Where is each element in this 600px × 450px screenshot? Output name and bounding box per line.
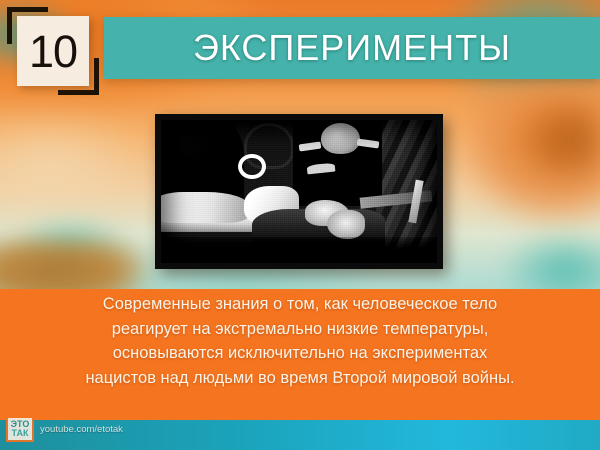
background-blob-right-dark bbox=[520, 95, 600, 185]
photo-frame bbox=[155, 114, 443, 269]
caption-line-1: Современные знания о том, как человеческ… bbox=[12, 292, 588, 317]
photo-layer-head bbox=[321, 123, 360, 154]
photo-layer-strap bbox=[238, 154, 265, 179]
caption-line-4: нацистов над людьми во время Второй миро… bbox=[12, 366, 588, 391]
channel-watermark[interactable]: ЭТО ТАК youtube.com/etotak bbox=[6, 416, 123, 442]
channel-url-text: youtube.com/etotak bbox=[40, 424, 123, 435]
photo-layer-arm bbox=[161, 192, 249, 223]
background-blob-left-tan bbox=[0, 110, 160, 220]
title-bar: ЭКСПЕРИМЕНТЫ bbox=[104, 17, 600, 79]
slide-number-badge: 10 bbox=[5, 5, 107, 97]
photo-layer-floor bbox=[161, 237, 437, 263]
photo-layer-face-secondary bbox=[327, 210, 366, 239]
caption-banner: Современные знания о том, как человеческ… bbox=[0, 289, 600, 420]
historical-photo bbox=[161, 120, 437, 263]
caption-line-2: реагирует на экстремально низкие темпера… bbox=[12, 317, 588, 342]
slide-number-text: 10 bbox=[29, 29, 77, 74]
channel-logo-icon: ЭТО ТАК bbox=[6, 416, 34, 442]
caption-line-3: основываются исключительно на эксперимен… bbox=[12, 341, 588, 366]
slide-number-box: 10 bbox=[17, 16, 89, 86]
caption-text: Современные знания о том, как человеческ… bbox=[12, 292, 588, 390]
channel-logo-bottom-text: ТАК bbox=[12, 429, 29, 438]
slide-title: ЭКСПЕРИМЕНТЫ bbox=[193, 27, 511, 69]
slide-container: 10 ЭКСПЕРИМЕНТЫ bbox=[0, 0, 600, 450]
